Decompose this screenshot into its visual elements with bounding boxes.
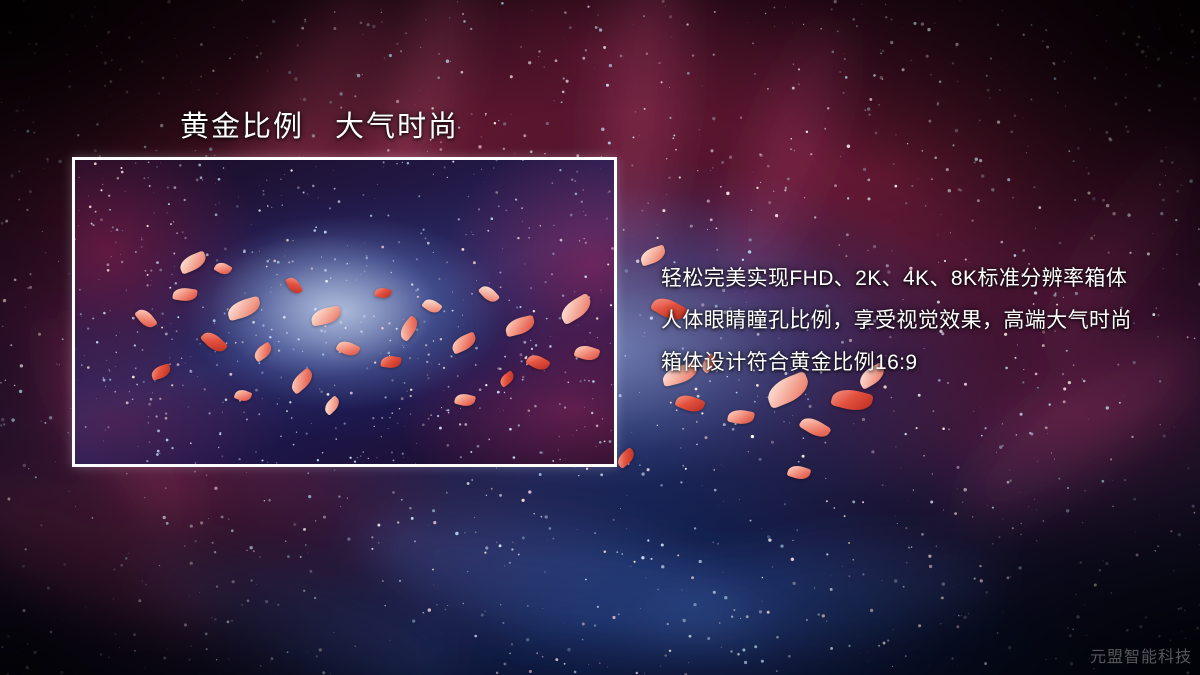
star bbox=[69, 70, 71, 72]
star bbox=[669, 87, 670, 88]
star bbox=[765, 13, 766, 14]
star bbox=[470, 28, 472, 30]
star bbox=[481, 136, 482, 137]
star bbox=[1184, 610, 1186, 612]
star bbox=[1014, 254, 1017, 257]
star bbox=[844, 515, 846, 517]
star bbox=[478, 145, 481, 148]
star bbox=[905, 655, 907, 657]
star bbox=[856, 25, 858, 27]
star bbox=[803, 437, 805, 439]
star bbox=[798, 68, 800, 70]
star bbox=[29, 190, 32, 193]
star bbox=[911, 546, 912, 547]
star bbox=[577, 529, 578, 530]
star bbox=[1037, 387, 1039, 389]
star bbox=[1126, 130, 1129, 133]
star bbox=[875, 132, 878, 135]
star bbox=[1012, 197, 1014, 199]
star bbox=[963, 488, 966, 491]
star bbox=[1160, 159, 1163, 162]
star bbox=[1077, 147, 1080, 150]
flower-petal bbox=[177, 250, 209, 274]
star bbox=[894, 185, 897, 188]
star bbox=[1106, 204, 1109, 207]
star bbox=[503, 662, 506, 665]
star bbox=[774, 7, 776, 9]
star bbox=[1123, 395, 1124, 396]
star bbox=[1012, 527, 1014, 529]
star bbox=[512, 542, 513, 543]
star bbox=[702, 86, 703, 87]
star bbox=[0, 382, 2, 384]
star bbox=[693, 603, 696, 606]
star bbox=[43, 168, 44, 169]
star bbox=[176, 55, 177, 56]
flower-petal bbox=[421, 296, 443, 316]
star bbox=[47, 587, 50, 590]
star bbox=[1070, 52, 1072, 54]
star bbox=[260, 52, 263, 55]
star bbox=[1018, 566, 1021, 569]
star bbox=[1138, 36, 1141, 39]
flower-petal bbox=[573, 343, 600, 364]
star bbox=[145, 102, 146, 103]
star bbox=[400, 50, 402, 52]
star bbox=[424, 614, 425, 615]
star bbox=[1094, 235, 1095, 236]
star bbox=[270, 661, 271, 662]
star bbox=[544, 153, 545, 154]
star bbox=[826, 500, 828, 502]
star bbox=[955, 43, 958, 46]
star bbox=[669, 15, 672, 18]
star bbox=[246, 550, 247, 551]
star bbox=[882, 484, 884, 486]
star bbox=[660, 666, 661, 667]
star bbox=[599, 28, 602, 31]
star bbox=[1185, 637, 1187, 639]
star bbox=[666, 194, 667, 195]
star bbox=[382, 22, 383, 23]
star bbox=[214, 487, 217, 490]
star bbox=[357, 74, 360, 77]
star bbox=[228, 658, 229, 659]
star bbox=[1029, 432, 1031, 434]
star bbox=[824, 128, 826, 130]
star bbox=[542, 656, 544, 658]
star bbox=[267, 71, 268, 72]
star bbox=[696, 444, 698, 446]
star bbox=[889, 220, 890, 221]
led-screen-content bbox=[75, 160, 614, 464]
star bbox=[858, 402, 859, 403]
star bbox=[862, 418, 865, 421]
star bbox=[979, 120, 981, 122]
star bbox=[392, 491, 395, 494]
star bbox=[959, 0, 960, 1]
star bbox=[722, 572, 723, 573]
star bbox=[75, 506, 76, 507]
star bbox=[839, 244, 840, 245]
star bbox=[1045, 426, 1048, 429]
star bbox=[322, 671, 325, 674]
star bbox=[1161, 82, 1163, 84]
star bbox=[987, 505, 988, 506]
star bbox=[1109, 138, 1112, 141]
star bbox=[972, 516, 973, 517]
star bbox=[356, 74, 357, 75]
star bbox=[264, 500, 265, 501]
star bbox=[166, 522, 169, 525]
star bbox=[144, 667, 145, 668]
star bbox=[1058, 478, 1060, 480]
star bbox=[827, 107, 830, 110]
star bbox=[471, 479, 473, 481]
star bbox=[873, 74, 876, 77]
star bbox=[511, 548, 513, 550]
star bbox=[1177, 608, 1179, 610]
star bbox=[736, 392, 738, 394]
star bbox=[808, 435, 809, 436]
star bbox=[200, 76, 202, 78]
star bbox=[867, 197, 870, 200]
star bbox=[946, 168, 949, 171]
star bbox=[474, 635, 477, 638]
star bbox=[863, 168, 866, 171]
star bbox=[242, 0, 243, 1]
star bbox=[1046, 46, 1049, 49]
star bbox=[1141, 50, 1145, 54]
star bbox=[498, 547, 499, 548]
star bbox=[564, 663, 566, 665]
star bbox=[1087, 191, 1090, 194]
star bbox=[1163, 268, 1164, 269]
star bbox=[1014, 114, 1017, 117]
star bbox=[682, 465, 684, 467]
led-screen-frame bbox=[72, 157, 617, 467]
star bbox=[893, 164, 894, 165]
star bbox=[247, 600, 250, 603]
star bbox=[619, 394, 622, 397]
star bbox=[837, 31, 839, 33]
star bbox=[354, 95, 356, 97]
flower-petal bbox=[322, 395, 343, 415]
star bbox=[953, 144, 955, 146]
star bbox=[35, 43, 38, 46]
star bbox=[730, 650, 732, 652]
star bbox=[824, 442, 826, 444]
star bbox=[740, 117, 742, 119]
star bbox=[776, 636, 779, 639]
star bbox=[903, 586, 905, 588]
star bbox=[542, 608, 543, 609]
star bbox=[981, 435, 983, 437]
star bbox=[668, 177, 671, 180]
star bbox=[1094, 77, 1097, 80]
star bbox=[1003, 612, 1004, 613]
star bbox=[1006, 65, 1007, 66]
star bbox=[643, 336, 644, 337]
star bbox=[528, 61, 531, 64]
star bbox=[785, 7, 786, 8]
star bbox=[712, 542, 714, 544]
star bbox=[485, 611, 486, 612]
star bbox=[955, 129, 959, 133]
star bbox=[120, 564, 123, 567]
star bbox=[432, 509, 435, 512]
star bbox=[1093, 668, 1094, 669]
star bbox=[957, 466, 960, 469]
star bbox=[414, 540, 416, 542]
star bbox=[319, 648, 322, 651]
body-line-2: 人体眼睛瞳孔比例，享受视觉效果，高端大气时尚 bbox=[661, 300, 1161, 342]
star bbox=[639, 464, 640, 465]
star bbox=[754, 73, 756, 75]
star bbox=[930, 501, 933, 504]
star bbox=[597, 606, 599, 608]
star bbox=[760, 154, 763, 157]
star bbox=[928, 555, 931, 558]
star bbox=[107, 31, 110, 34]
star bbox=[957, 559, 958, 560]
star bbox=[1129, 252, 1131, 254]
star bbox=[997, 120, 1000, 123]
star bbox=[3, 423, 5, 425]
star bbox=[784, 189, 786, 191]
star bbox=[1178, 533, 1181, 536]
star bbox=[798, 461, 800, 463]
star bbox=[496, 672, 498, 674]
star bbox=[677, 554, 679, 556]
star bbox=[957, 489, 958, 490]
star bbox=[957, 625, 960, 628]
star bbox=[803, 24, 804, 25]
star bbox=[737, 653, 740, 656]
star bbox=[617, 445, 618, 446]
star bbox=[1003, 519, 1004, 520]
star bbox=[1026, 152, 1027, 153]
star bbox=[744, 661, 747, 664]
star bbox=[457, 1, 458, 2]
star bbox=[687, 72, 690, 75]
star bbox=[1196, 627, 1199, 630]
star bbox=[692, 54, 694, 56]
star bbox=[85, 607, 86, 608]
star bbox=[1080, 561, 1082, 563]
star bbox=[569, 26, 572, 29]
star bbox=[941, 597, 944, 600]
nebula-wisp bbox=[125, 526, 476, 675]
star bbox=[1110, 458, 1112, 460]
star bbox=[110, 80, 113, 83]
star bbox=[1047, 433, 1048, 434]
star bbox=[977, 199, 980, 202]
star bbox=[475, 531, 476, 532]
star bbox=[631, 164, 633, 166]
star bbox=[144, 497, 145, 498]
star bbox=[712, 117, 715, 120]
star bbox=[1154, 49, 1155, 50]
star bbox=[58, 160, 61, 163]
star bbox=[1121, 203, 1122, 204]
star bbox=[734, 423, 736, 425]
star bbox=[774, 26, 775, 27]
star bbox=[199, 592, 200, 593]
star bbox=[190, 562, 193, 565]
star bbox=[776, 670, 778, 672]
star bbox=[530, 150, 533, 153]
star bbox=[773, 191, 774, 192]
star bbox=[639, 136, 640, 137]
star bbox=[925, 205, 927, 207]
star bbox=[134, 650, 136, 652]
star bbox=[260, 665, 262, 667]
star bbox=[661, 81, 663, 83]
star bbox=[205, 632, 208, 635]
star bbox=[961, 615, 962, 616]
star bbox=[1076, 615, 1079, 618]
star bbox=[5, 380, 6, 381]
star bbox=[702, 485, 703, 486]
star bbox=[582, 623, 585, 626]
star bbox=[714, 489, 717, 492]
star bbox=[986, 75, 988, 77]
star bbox=[1082, 522, 1083, 523]
star bbox=[1034, 499, 1035, 500]
star bbox=[594, 624, 596, 626]
star bbox=[300, 98, 301, 99]
star bbox=[450, 61, 451, 62]
flower-petal bbox=[251, 341, 274, 362]
star bbox=[750, 520, 752, 522]
flower-petal bbox=[134, 306, 158, 331]
star bbox=[868, 661, 869, 662]
star bbox=[175, 38, 176, 39]
flower-petal bbox=[225, 296, 262, 322]
star bbox=[1042, 40, 1044, 42]
star bbox=[241, 604, 242, 605]
star bbox=[1112, 480, 1113, 481]
star bbox=[334, 11, 335, 12]
star bbox=[1189, 179, 1192, 182]
star bbox=[644, 108, 646, 110]
star bbox=[427, 151, 428, 152]
star bbox=[250, 546, 253, 549]
star bbox=[50, 631, 53, 634]
star bbox=[952, 62, 954, 64]
star bbox=[372, 25, 375, 28]
star bbox=[162, 77, 165, 80]
nebula-wisp bbox=[0, 453, 237, 666]
star bbox=[791, 558, 794, 561]
star bbox=[184, 623, 187, 626]
star bbox=[567, 648, 571, 652]
star bbox=[1002, 423, 1003, 424]
star bbox=[756, 384, 759, 387]
star bbox=[1146, 67, 1147, 68]
star bbox=[918, 394, 921, 397]
star bbox=[954, 587, 955, 588]
star bbox=[1028, 146, 1029, 147]
star bbox=[1112, 212, 1115, 215]
flower-petal bbox=[614, 447, 637, 469]
star bbox=[1112, 505, 1114, 507]
star bbox=[897, 523, 898, 524]
star bbox=[845, 76, 848, 79]
star bbox=[307, 652, 308, 653]
star bbox=[595, 26, 598, 29]
star bbox=[63, 563, 66, 566]
star bbox=[752, 43, 754, 45]
flower-petal bbox=[787, 463, 812, 482]
star bbox=[1131, 436, 1133, 438]
star bbox=[1063, 387, 1066, 390]
star bbox=[921, 22, 924, 25]
star bbox=[627, 495, 628, 496]
star bbox=[1036, 510, 1037, 511]
star bbox=[1125, 97, 1127, 99]
star bbox=[582, 57, 585, 60]
star bbox=[795, 386, 797, 388]
star bbox=[144, 146, 147, 149]
star bbox=[1074, 199, 1076, 201]
star bbox=[848, 645, 850, 647]
star bbox=[432, 569, 434, 571]
star bbox=[1187, 467, 1189, 469]
star bbox=[623, 229, 625, 231]
star bbox=[1179, 14, 1181, 16]
star bbox=[59, 364, 60, 365]
star bbox=[864, 109, 866, 111]
star bbox=[767, 88, 769, 90]
star bbox=[609, 64, 612, 67]
star bbox=[509, 562, 511, 564]
star bbox=[40, 524, 42, 526]
star bbox=[714, 121, 715, 122]
star bbox=[165, 487, 166, 488]
star bbox=[113, 568, 115, 570]
star bbox=[721, 647, 722, 648]
star bbox=[830, 647, 833, 650]
star bbox=[1084, 605, 1085, 606]
star bbox=[826, 553, 828, 555]
star bbox=[634, 561, 636, 563]
star bbox=[859, 653, 860, 654]
star bbox=[1194, 42, 1195, 43]
star bbox=[371, 536, 373, 538]
star bbox=[756, 187, 758, 189]
star bbox=[1002, 10, 1004, 12]
star bbox=[439, 148, 442, 151]
star bbox=[940, 598, 941, 599]
star bbox=[44, 422, 46, 424]
star bbox=[1133, 498, 1136, 501]
star bbox=[999, 89, 1000, 90]
star bbox=[1152, 233, 1153, 234]
flower-petal bbox=[798, 413, 831, 442]
star bbox=[608, 141, 611, 144]
star bbox=[491, 488, 493, 490]
star bbox=[974, 578, 976, 580]
star bbox=[717, 543, 719, 545]
star bbox=[293, 523, 296, 526]
star bbox=[382, 580, 384, 582]
star bbox=[27, 643, 28, 644]
star bbox=[1145, 55, 1146, 56]
star bbox=[119, 68, 122, 71]
star bbox=[1173, 570, 1174, 571]
